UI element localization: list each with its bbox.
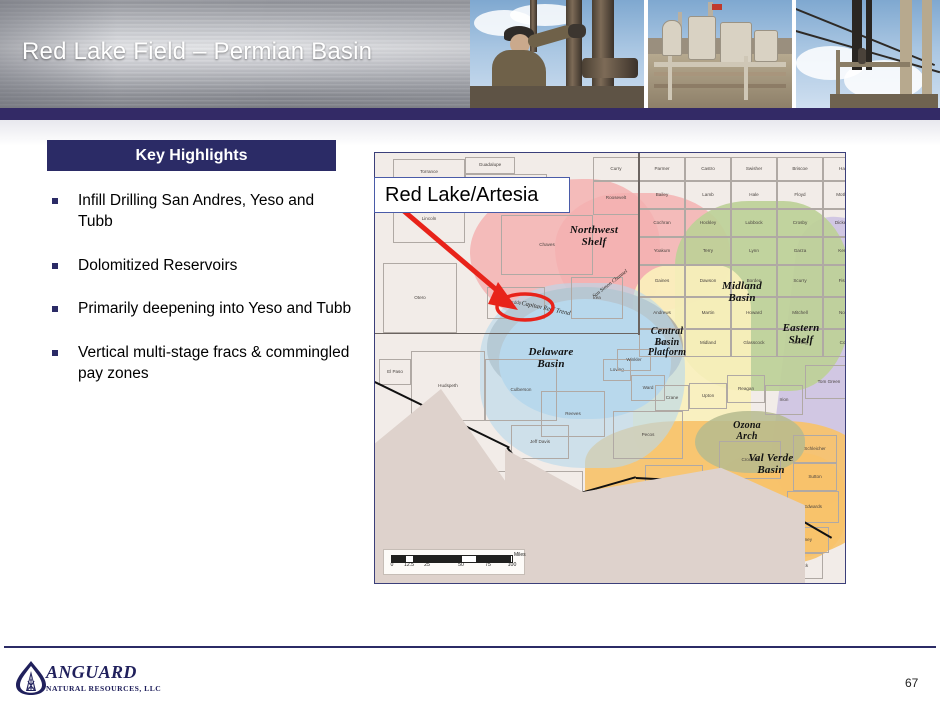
bullet-text: Dolomitized Reservoirs xyxy=(78,255,237,276)
worker xyxy=(858,48,866,64)
county-floyd: Floyd xyxy=(777,181,823,209)
platform xyxy=(836,62,910,67)
drill-pipe xyxy=(592,0,614,100)
county-guadalupe: Guadalupe xyxy=(465,157,515,174)
logo-word: ANGUARD xyxy=(46,662,161,683)
county-upton: Upton xyxy=(689,383,727,409)
county-fisher: Fisher xyxy=(823,265,846,297)
logo-wordmark: ANGUARD NATURAL RESOURCES, LLC xyxy=(46,662,161,693)
map-scale-bar: 0 12.5 25 50 75 100 Miles xyxy=(383,549,525,575)
county-el-paso: El Paso xyxy=(379,359,411,385)
county-lubbock: Lubbock xyxy=(731,209,777,237)
pipe-tool xyxy=(582,58,638,78)
list-item: Infill Drilling San Andres, Yeso and Tub… xyxy=(52,190,352,233)
pipe-run xyxy=(654,84,786,88)
vessel xyxy=(688,16,716,60)
county-parmer: Parmer xyxy=(639,157,685,181)
vessel xyxy=(754,30,778,62)
page-title: Red Lake Field – Permian Basin xyxy=(22,38,372,66)
bullet-square-icon xyxy=(52,350,58,356)
bullet-square-icon xyxy=(52,263,58,269)
basin-label-val-verde: Val Verde Basin xyxy=(723,453,819,476)
county-tom-green: Tom Green xyxy=(805,365,846,399)
county-crane: Crane xyxy=(655,385,689,411)
county-dickens: Dickens xyxy=(823,209,846,237)
derrick-photo xyxy=(796,0,940,108)
scale-tick: 50 xyxy=(458,562,464,568)
scale-tick: 12.5 xyxy=(404,562,414,568)
nm-tx-state-line xyxy=(375,333,639,334)
derrick-mast xyxy=(900,0,912,108)
red-lake-highlight-ellipse xyxy=(490,286,560,328)
county-castro: Castro xyxy=(685,157,731,181)
bullet-square-icon xyxy=(52,306,58,312)
scale-unit-label: Miles xyxy=(514,552,526,558)
basin-label-eastern-shelf: Eastern Shelf xyxy=(761,323,841,346)
basin-label-midland: Midland Basin xyxy=(697,281,787,304)
nm-tx-state-line xyxy=(638,153,640,335)
header-accent-bar xyxy=(0,108,940,120)
scale-segment xyxy=(476,556,511,562)
county-kent: Kent xyxy=(823,237,846,265)
slide-header: Red Lake Field – Permian Basin xyxy=(0,0,940,108)
footer-divider xyxy=(4,646,936,648)
highlights-bullet-list: Infill Drilling San Andres, Yeso and Tub… xyxy=(52,190,352,406)
scale-tick: 75 xyxy=(485,562,491,568)
ground xyxy=(470,86,644,108)
gas-plant-photo xyxy=(648,0,792,108)
rig-floor xyxy=(830,94,938,108)
drill-pipe xyxy=(566,0,582,90)
county-hockley: Hockley xyxy=(685,209,731,237)
pipe-run xyxy=(654,72,786,76)
pipe-run xyxy=(654,62,786,67)
county-lynn: Lynn xyxy=(731,237,777,265)
county-roosevelt: Roosevelt xyxy=(593,181,639,215)
county-briscoe: Briscoe xyxy=(777,157,823,181)
riser xyxy=(744,56,748,100)
vessel xyxy=(662,20,682,56)
county-hale: Hale xyxy=(731,181,777,209)
county-bailey: Bailey xyxy=(639,181,685,209)
county-garza: Garza xyxy=(777,237,823,265)
rig-worker-photo xyxy=(470,0,644,108)
riser xyxy=(668,56,672,100)
county-hall: Hall xyxy=(823,157,846,181)
county-curry: Curry xyxy=(593,157,639,181)
callout-label: Red Lake/Artesia xyxy=(385,184,538,207)
bullet-text: Infill Drilling San Andres, Yeso and Tub… xyxy=(78,190,352,233)
page-number: 67 xyxy=(905,676,918,690)
basin-label-central-basin-platform: Central Basin Platform xyxy=(628,327,706,359)
flame-derrick-icon xyxy=(14,660,48,696)
county-terry: Terry xyxy=(685,237,731,265)
red-lake-artesia-callout: Red Lake/Artesia xyxy=(374,177,570,213)
pipe-bundle xyxy=(866,0,872,70)
bullet-text: Primarily deepening into Yeso and Tubb xyxy=(78,298,351,319)
county-gaines: Gaines xyxy=(639,265,685,297)
basin-label-delaware: Delaware Basin xyxy=(505,347,597,370)
county-crosby: Crosby xyxy=(777,209,823,237)
logo-subtitle: NATURAL RESOURCES, LLC xyxy=(46,684,161,693)
county-pecos: Pecos xyxy=(613,411,683,459)
county-motley: Motley xyxy=(823,181,846,209)
key-highlights-header: Key Highlights xyxy=(47,140,336,171)
county-andrews: Andrews xyxy=(639,297,685,329)
vanguard-logo: ANGUARD NATURAL RESOURCES, LLC xyxy=(14,660,224,696)
county-yoakum: Yoakum xyxy=(639,237,685,265)
platform-post xyxy=(836,50,840,96)
list-item: Vertical multi-stage fracs & commingled … xyxy=(52,342,352,385)
basin-label-ozona-arch: Ozona Arch xyxy=(711,421,783,442)
bullet-square-icon xyxy=(52,198,58,204)
county-irion: Irion xyxy=(765,385,803,415)
county-lamb: Lamb xyxy=(685,181,731,209)
list-item: Primarily deepening into Yeso and Tubb xyxy=(52,298,352,319)
scale-tick: 0 xyxy=(391,562,394,568)
list-item: Dolomitized Reservoirs xyxy=(52,255,352,276)
county-swisher: Swisher xyxy=(731,157,777,181)
worker-glove xyxy=(568,24,586,38)
derrick-mast xyxy=(922,0,932,108)
county-cochran: Cochran xyxy=(639,209,685,237)
scale-segment xyxy=(427,556,462,562)
county-jeff-davis: Jeff Davis xyxy=(511,425,569,459)
scale-tick: 100 xyxy=(508,562,517,568)
scale-tick: 25 xyxy=(424,562,430,568)
key-highlights-label: Key Highlights xyxy=(135,147,247,165)
flag xyxy=(712,4,722,10)
county-reagan: Reagan xyxy=(727,375,765,403)
bullet-text: Vertical multi-stage fracs & commingled … xyxy=(78,342,352,385)
